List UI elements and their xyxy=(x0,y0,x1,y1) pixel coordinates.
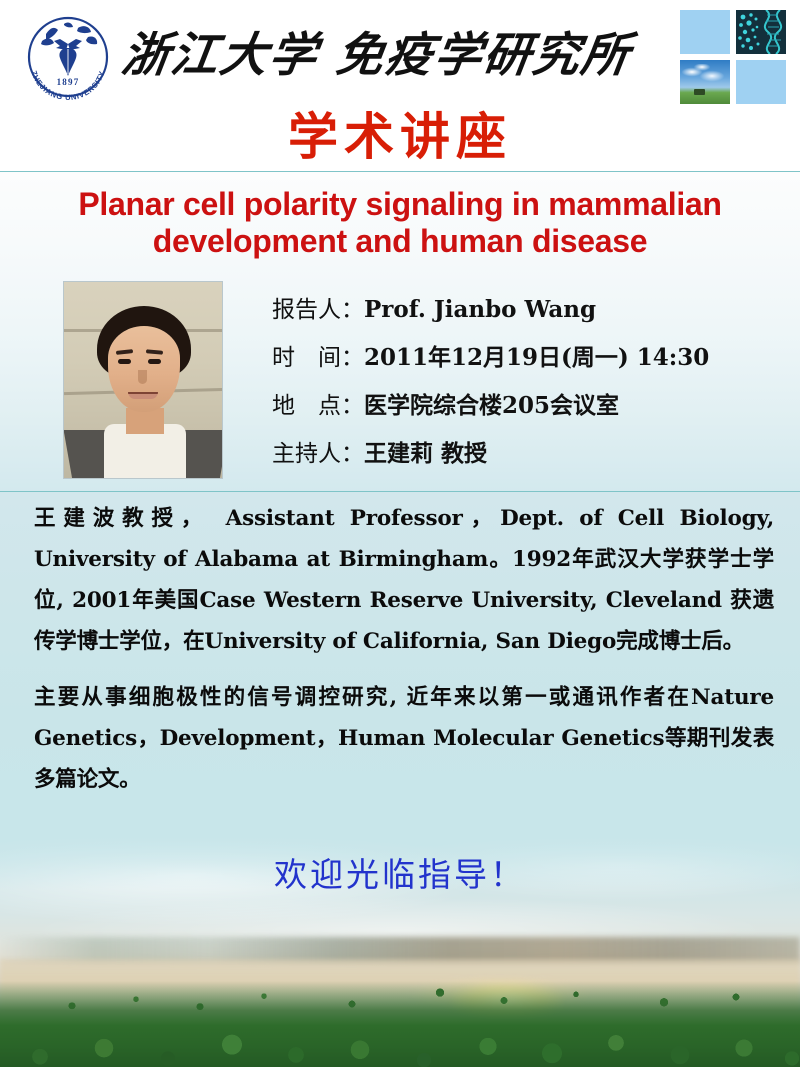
zhejiang-university-logo-icon: 1897 ZHEJIANG UNIVERSITY xyxy=(18,8,118,106)
bio-paragraph-1: 王建波教授， Assistant Professor，Dept. of Cell… xyxy=(34,498,774,662)
lecture-details-block: 报告人：Prof. Jianbo Wang 时 间：2011年12月19日(周一… xyxy=(272,286,772,478)
speaker-portrait xyxy=(63,281,223,479)
english-lecture-title: Planar cell polarity signaling in mammal… xyxy=(12,186,788,260)
poster-header: 1897 ZHEJIANG UNIVERSITY 浙江大学 免疫学研究所 xyxy=(0,0,800,110)
portrait-nose xyxy=(138,370,147,384)
chinese-lecture-title: 学术讲座 xyxy=(0,108,800,166)
bio-paragraph-2: 主要从事细胞极性的信号调控研究, 近年来以第一或通讯作者在Nature Gene… xyxy=(34,677,774,800)
divider-mid xyxy=(0,491,800,492)
portrait-face xyxy=(108,326,180,412)
detail-row-speaker: 报告人：Prof. Jianbo Wang xyxy=(272,286,772,334)
landscape-photo-icon xyxy=(680,60,730,104)
detail-row-host: 主持人：王建莉 教授 xyxy=(272,430,772,478)
detail-value-host: 王建莉 教授 xyxy=(364,440,487,467)
dna-helix-icon xyxy=(736,10,786,54)
detail-label-time: 时 间： xyxy=(272,345,364,371)
speaker-biography: 王建波教授， Assistant Professor，Dept. of Cell… xyxy=(34,498,774,800)
divider-top xyxy=(0,171,800,172)
portrait-eye-left xyxy=(118,359,131,364)
portrait-mouth xyxy=(128,392,158,399)
detail-value-venue: 医学院综合楼205会议室 xyxy=(364,392,619,419)
portrait-eye-right xyxy=(148,359,161,364)
foreground-foliage xyxy=(0,981,800,1067)
header-image-tiles xyxy=(680,10,788,104)
detail-value-speaker: Prof. Jianbo Wang xyxy=(364,296,596,323)
detail-row-time: 时 间：2011年12月19日(周一) 14:30 xyxy=(272,334,772,382)
welcome-message: 欢迎光临指导！ xyxy=(0,848,800,896)
institute-calligraphy-title: 浙江大学 免疫学研究所 xyxy=(117,22,587,92)
lecture-poster: 1897 ZHEJIANG UNIVERSITY 浙江大学 免疫学研究所 xyxy=(0,0,800,1067)
detail-label-speaker: 报告人： xyxy=(272,297,364,323)
detail-label-host: 主持人： xyxy=(272,441,364,467)
detail-row-venue: 地 点：医学院综合楼205会议室 xyxy=(272,382,772,430)
blue-square-icon xyxy=(680,10,730,54)
svg-text:1897: 1897 xyxy=(57,77,80,87)
detail-value-time: 2011年12月19日(周一) 14:30 xyxy=(364,344,709,371)
detail-label-venue: 地 点： xyxy=(272,393,364,419)
blue-square-icon xyxy=(736,60,786,104)
